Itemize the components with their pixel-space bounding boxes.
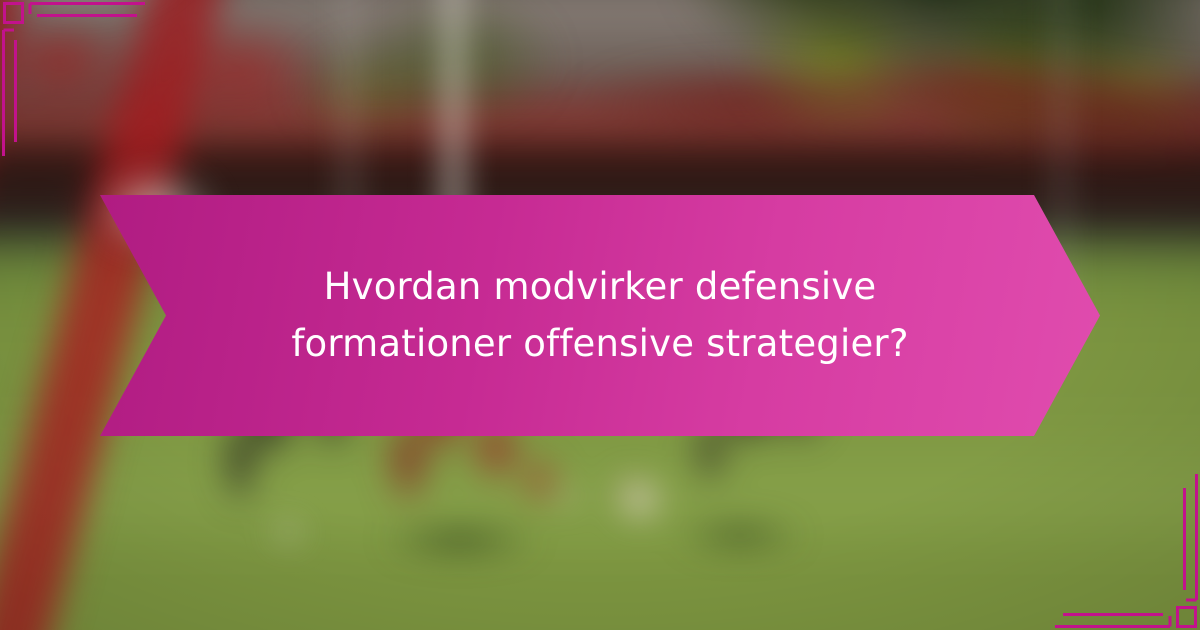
- headline-banner: Hvordan modvirker defensive formationer …: [100, 195, 1100, 436]
- page-title: Hvordan modvirker defensive formationer …: [250, 259, 950, 371]
- banner-card: Hvordan modvirker defensive formationer …: [0, 0, 1200, 630]
